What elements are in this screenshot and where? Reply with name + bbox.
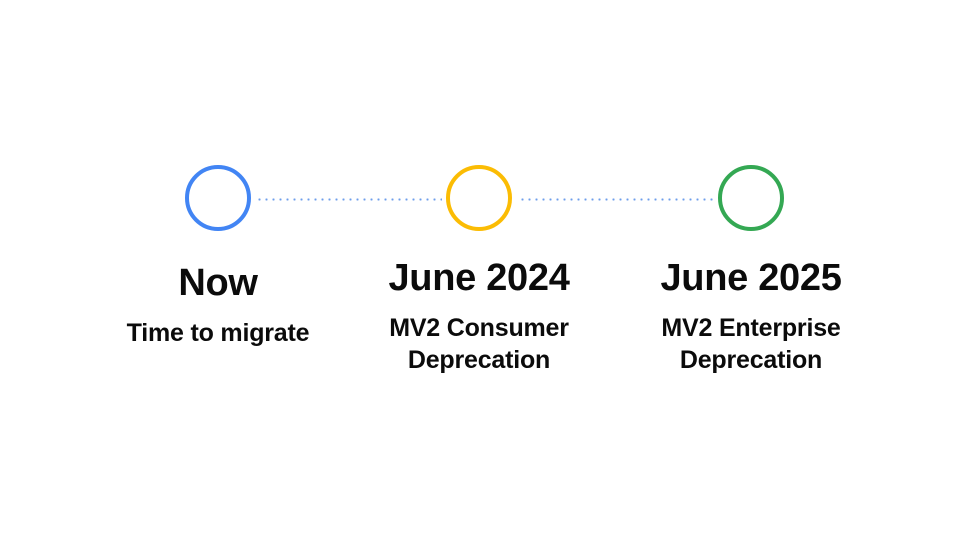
timeline-diagram: Now Time to migrate June 2024 MV2 Consum…	[0, 0, 960, 540]
milestone-heading-june-2024: June 2024	[388, 259, 569, 299]
milestone-marker-icon-now	[185, 165, 251, 231]
timeline-milestone-june-2024: June 2024 MV2 Consumer Deprecation	[329, 150, 629, 377]
milestone-caption-june-2024: MV2 Consumer Deprecation	[369, 312, 589, 377]
milestone-caption-june-2025: MV2 Enterprise Deprecation	[641, 312, 861, 377]
milestone-marker-icon-june-2025	[718, 165, 784, 231]
milestone-caption-now: Time to migrate	[127, 317, 310, 350]
milestone-heading-now: Now	[178, 264, 257, 304]
milestone-heading-june-2025: June 2025	[660, 259, 841, 299]
timeline-milestone-june-2025: June 2025 MV2 Enterprise Deprecation	[601, 150, 901, 377]
timeline-milestone-now: Now Time to migrate	[68, 150, 368, 349]
milestone-marker-icon-june-2024	[446, 165, 512, 231]
